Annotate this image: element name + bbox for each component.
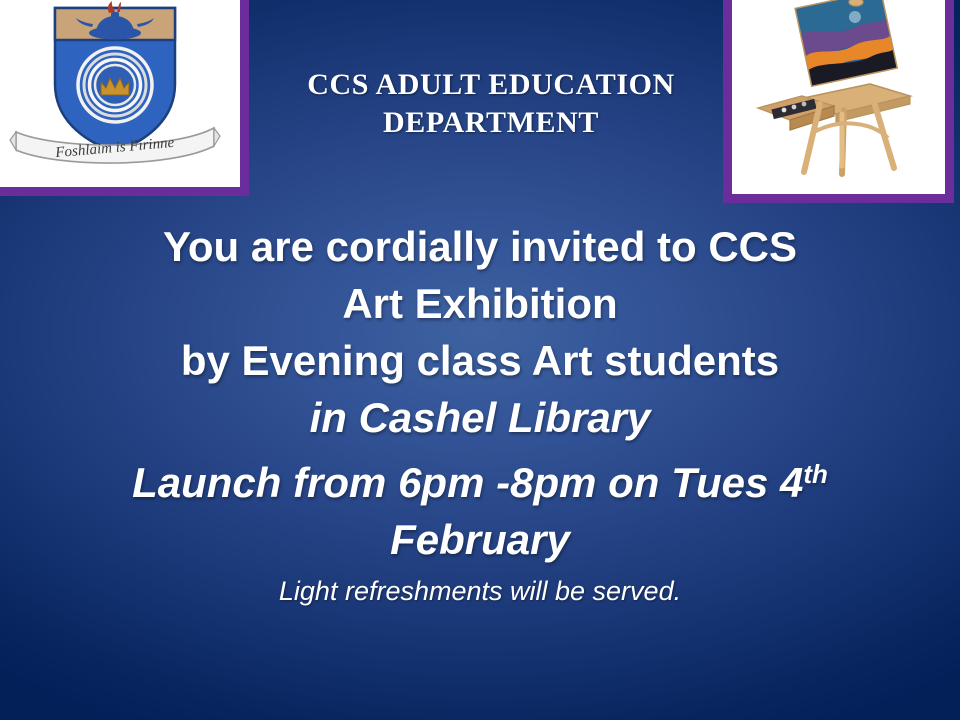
page-title: CCS ADULT EDUCATION DEPARTMENT	[258, 66, 724, 142]
invite-line-4: in Cashel Library	[0, 389, 960, 446]
invite-line-1: You are cordially invited to CCS	[0, 218, 960, 275]
art-easel-box	[723, 0, 954, 203]
invite-line-6: February	[0, 511, 960, 568]
crown-roundel-icon	[78, 48, 152, 122]
refreshments-note: Light refreshments will be served.	[0, 571, 960, 611]
invite-line-3: by Evening class Art students	[0, 332, 960, 389]
invitation-slide: CCS ADULT EDUCATION DEPARTMENT	[0, 0, 960, 720]
page-title-line-2: DEPARTMENT	[258, 104, 724, 142]
invite-line-5-ordinal: th	[803, 459, 828, 489]
invitation-body: You are cordially invited to CCS Art Exh…	[0, 218, 960, 611]
school-crest-icon: Foshlaim is Fírinne	[8, 0, 222, 182]
school-crest-box: Foshlaim is Fírinne	[0, 0, 249, 196]
art-easel-icon	[744, 0, 932, 178]
page-title-line-1: CCS ADULT EDUCATION	[258, 66, 724, 104]
painting-on-canvas	[796, 0, 896, 85]
invite-line-2: Art Exhibition	[0, 275, 960, 332]
invite-line-5: Launch from 6pm -8pm on Tues 4th	[0, 446, 960, 511]
invite-line-5-text: Launch from 6pm -8pm on Tues 4	[132, 459, 803, 506]
